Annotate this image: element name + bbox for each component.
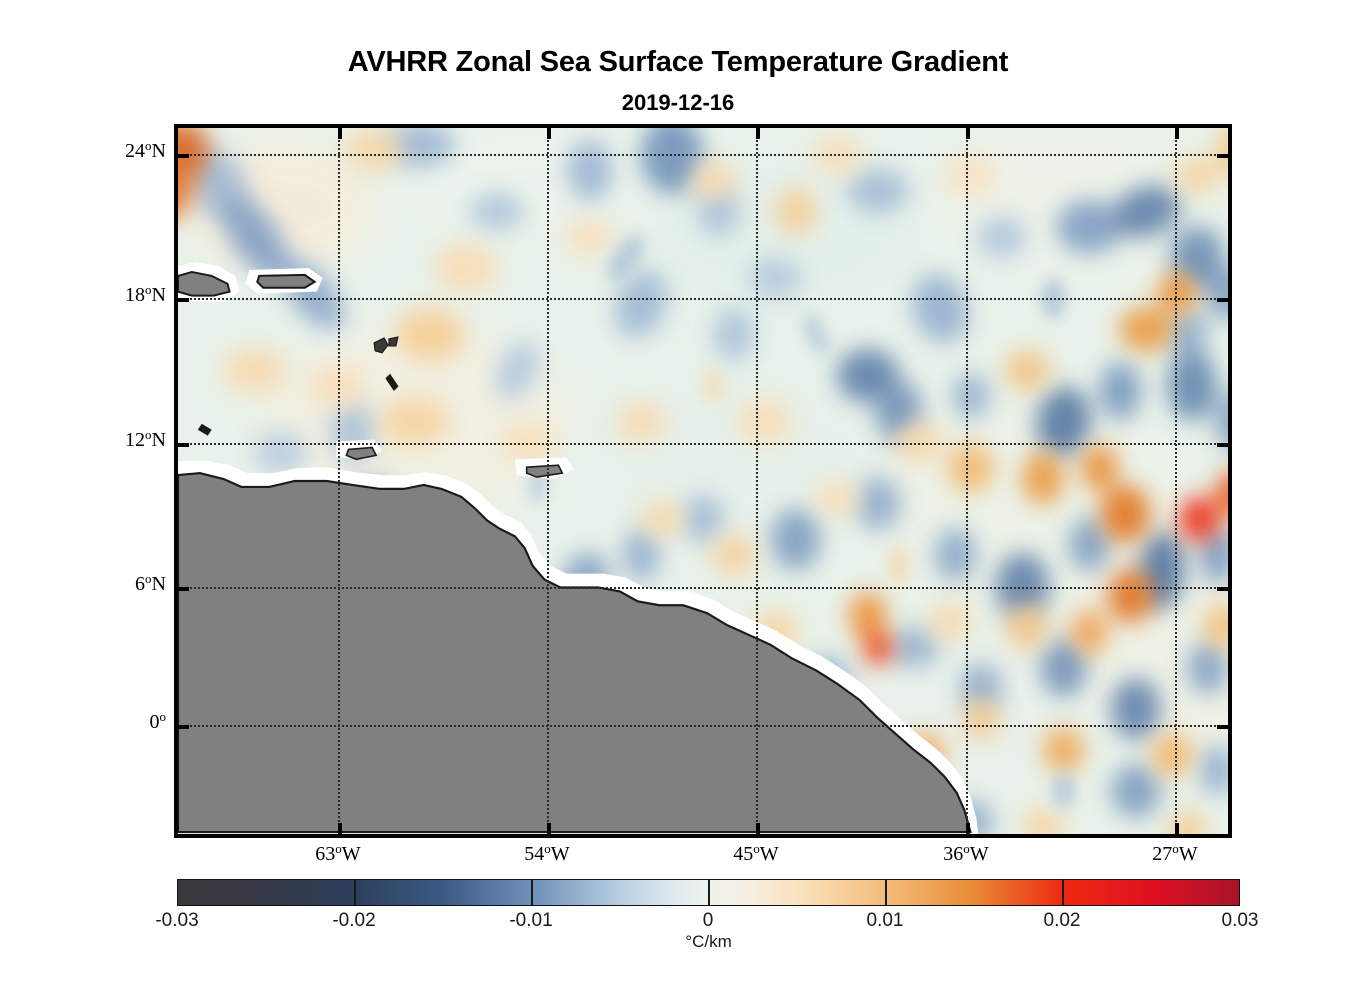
x-tick-value-54w: 54 bbox=[524, 843, 544, 865]
gridline-latitude-18n bbox=[178, 298, 1228, 300]
colorbar bbox=[177, 879, 1240, 906]
x-tick-label-45w: 45oW bbox=[733, 843, 778, 866]
map-clip bbox=[178, 128, 1228, 834]
gridline-longitude-27w bbox=[1175, 128, 1177, 834]
y-tick-label-0: 0o bbox=[150, 711, 167, 734]
y-tick-value-0: 0 bbox=[150, 711, 160, 733]
colorbar-tick-pos002 bbox=[1062, 879, 1064, 906]
y-tick-suffix-6n: N bbox=[152, 573, 166, 595]
colorbar-tick-zero bbox=[708, 879, 710, 906]
gridline-latitude-6n bbox=[178, 587, 1228, 589]
tick-y-left-24n bbox=[178, 154, 189, 158]
colorbar-label-neg002: -0.02 bbox=[332, 910, 375, 932]
y-tick-label-18n: 18oN bbox=[125, 284, 166, 307]
tick-y-right-12n bbox=[1217, 443, 1228, 447]
tick-y-right-6n bbox=[1217, 587, 1228, 591]
land-mass bbox=[178, 128, 1228, 834]
colorbar-tick-neg002 bbox=[354, 879, 356, 906]
colorbar-unit-label: °C/km bbox=[177, 932, 1240, 952]
x-tick-label-63w: 63oW bbox=[315, 843, 360, 866]
tick-x-bottom-36w bbox=[966, 823, 970, 834]
x-tick-label-27w: 27oW bbox=[1152, 843, 1197, 866]
tick-y-left-12n bbox=[178, 443, 189, 447]
degree-icon: o bbox=[160, 709, 167, 724]
gridline-longitude-45w bbox=[756, 128, 758, 834]
x-tick-suffix-36w: W bbox=[970, 843, 989, 865]
x-tick-value-36w: 36 bbox=[943, 843, 963, 865]
colorbar-tick-neg001 bbox=[531, 879, 533, 906]
gridline-longitude-63w bbox=[338, 128, 340, 834]
tick-y-right-24n bbox=[1217, 154, 1228, 158]
y-tick-value-18n: 18 bbox=[125, 284, 145, 306]
gridline-latitude-12n bbox=[178, 443, 1228, 445]
figure-subtitle: 2019-12-16 bbox=[0, 90, 1356, 116]
tick-x-bottom-45w bbox=[756, 823, 760, 834]
x-tick-value-45w: 45 bbox=[733, 843, 753, 865]
y-tick-suffix-24n: N bbox=[152, 140, 166, 162]
tick-x-top-36w bbox=[966, 128, 970, 139]
tick-y-right-0 bbox=[1217, 725, 1228, 729]
x-tick-value-27w: 27 bbox=[1152, 843, 1172, 865]
colorbar-tick-pos001 bbox=[885, 879, 887, 906]
x-tick-label-54w: 54oW bbox=[524, 843, 569, 866]
x-tick-value-63w: 63 bbox=[315, 843, 335, 865]
tick-y-left-6n bbox=[178, 587, 189, 591]
tick-x-bottom-63w bbox=[338, 823, 342, 834]
colorbar-label-pos003: 0.03 bbox=[1222, 910, 1259, 932]
x-tick-suffix-54w: W bbox=[551, 843, 570, 865]
x-tick-suffix-63w: W bbox=[342, 843, 361, 865]
colorbar-label-pos002: 0.02 bbox=[1044, 910, 1081, 932]
tick-y-right-18n bbox=[1217, 298, 1228, 302]
y-tick-label-6n: 6oN bbox=[135, 573, 166, 596]
page-title: AVHRR Zonal Sea Surface Temperature Grad… bbox=[0, 46, 1356, 79]
gridline-longitude-36w bbox=[966, 128, 968, 834]
x-tick-label-36w: 36oW bbox=[943, 843, 988, 866]
gridline-latitude-24n bbox=[178, 154, 1228, 156]
x-tick-suffix-27w: W bbox=[1179, 843, 1198, 865]
y-tick-value-12n: 12 bbox=[125, 429, 145, 451]
tick-y-left-18n bbox=[178, 298, 189, 302]
colorbar-label-neg003: -0.03 bbox=[155, 910, 198, 932]
tick-x-top-27w bbox=[1175, 128, 1179, 139]
y-tick-suffix-18n: N bbox=[152, 284, 166, 306]
tick-x-top-45w bbox=[756, 128, 760, 139]
tick-x-bottom-54w bbox=[547, 823, 551, 834]
y-tick-label-24n: 24oN bbox=[125, 140, 166, 163]
colorbar-label-pos001: 0.01 bbox=[867, 910, 904, 932]
tick-x-top-63w bbox=[338, 128, 342, 139]
tick-y-left-0 bbox=[178, 725, 189, 729]
y-tick-suffix-12n: N bbox=[152, 429, 166, 451]
y-tick-value-6n: 6 bbox=[135, 573, 145, 595]
y-tick-label-12n: 12oN bbox=[125, 429, 166, 452]
y-tick-value-24n: 24 bbox=[125, 140, 145, 162]
x-axis-labels: 63oW 54oW 45oW 36oW 27oW bbox=[174, 843, 1232, 873]
colorbar-label-zero: 0 bbox=[703, 910, 714, 932]
gridline-longitude-54w bbox=[547, 128, 549, 834]
map-plot-area bbox=[174, 124, 1232, 838]
colorbar-label-neg001: -0.01 bbox=[509, 910, 552, 932]
tick-x-top-54w bbox=[547, 128, 551, 139]
y-axis-labels: 24oN 18oN 12oN 6oN 0o bbox=[0, 124, 166, 838]
x-tick-suffix-45w: W bbox=[760, 843, 779, 865]
gridline-latitude-0 bbox=[178, 725, 1228, 727]
tick-x-bottom-27w bbox=[1175, 823, 1179, 834]
